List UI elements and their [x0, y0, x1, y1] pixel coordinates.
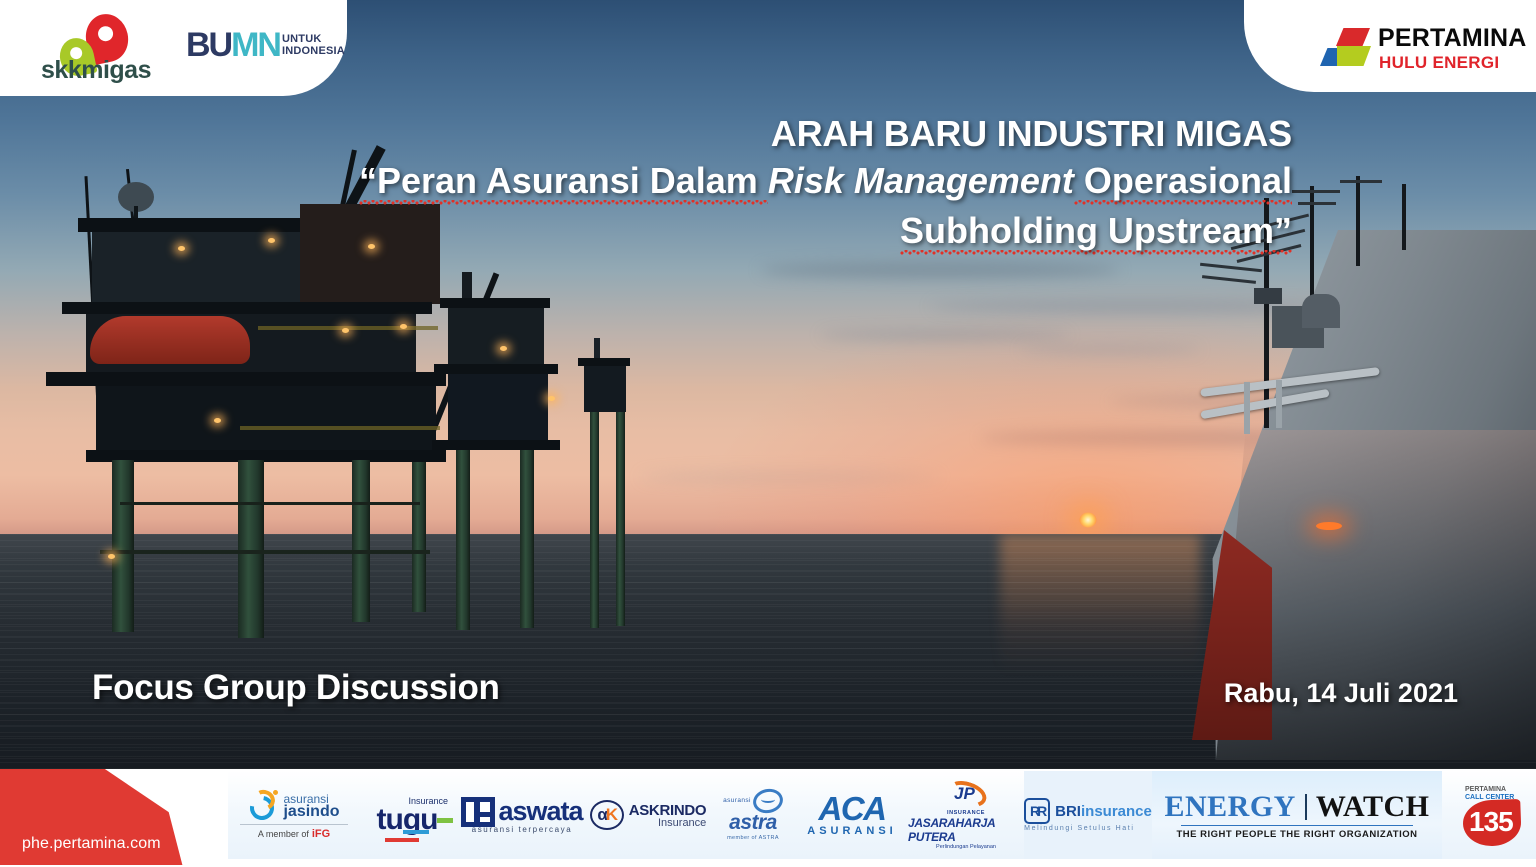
askrindo-mark-k: K — [606, 805, 616, 825]
pertamina-subbrand: HULU ENERGI — [1379, 53, 1499, 73]
aswata-h-icon — [461, 797, 495, 827]
sponsor-logo-strip: asuransi jasindo A member of iFG Insuran… — [228, 771, 1536, 859]
ifg-wordmark: iFG — [312, 828, 330, 840]
sponsor-logo-tugu: Insurance tugu — [356, 776, 458, 854]
jp-wordmark: JASARAHARJA PUTERA — [908, 816, 1024, 844]
astra-wordmark: astra — [729, 811, 777, 835]
bumn-tagline-line1: UNTUK — [282, 33, 345, 45]
event-type-label: Focus Group Discussion — [92, 668, 500, 708]
title-line-1: ARAH BARU INDUSTRI MIGAS — [200, 112, 1292, 156]
skkmigas-wordmark: skkmigas — [24, 56, 168, 85]
askrindo-ak-icon: αK — [590, 800, 624, 830]
title-line-2-part-a: “Peran Asuransi Dalam — [359, 160, 768, 205]
setting-sun — [1080, 513, 1097, 528]
call-center-label-line1: PERTAMINA — [1465, 786, 1514, 794]
website-url: phe.pertamina.com — [0, 835, 161, 867]
sponsor-logo-aca: ACA ASURANSI — [796, 776, 908, 854]
title-line-2-part-b: Operasional — [1074, 160, 1292, 205]
bri-stack: RR BRIinsurance Melindungi Setulus Hati — [1024, 798, 1152, 832]
slide-title-block: ARAH BARU INDUSTRI MIGAS “Peran Asuransi… — [200, 112, 1292, 256]
tugu-dash-accent — [437, 818, 453, 823]
askrindo-wordmark: ASKRINDO Insurance — [629, 802, 707, 829]
title-line-2: “Peran Asuransi Dalam Risk Management Op… — [200, 156, 1292, 206]
astra-label: asuransi — [723, 797, 751, 804]
title-line-2-italic: Risk Management — [768, 160, 1074, 201]
pertamina-logo: PERTAMINA HULU ENERGI — [1320, 22, 1520, 80]
bri-monogram-icon: RR — [1024, 798, 1050, 824]
bri-name-light: insurance — [1081, 803, 1152, 820]
bumn-mark-teal: MN — [231, 26, 280, 64]
skkmigas-logo: skkmigas — [20, 12, 168, 84]
sponsor-logo-aswata: aswata asuransi terpercaya — [458, 776, 586, 854]
pertamina-arrow-icon — [1320, 26, 1372, 72]
jp-swoosh-icon: JP — [943, 780, 989, 810]
presentation-slide: skkmigas BUMN UNTUK INDONESIA PERTAMINA … — [0, 0, 1536, 867]
call-center-number: 135 — [1469, 808, 1513, 836]
jasindo-line2: jasindo — [283, 805, 339, 818]
sponsor-logo-pertamina-call-center: PERTAMINA CALL CENTER 135 — [1442, 776, 1536, 854]
astra-sub: member of ASTRA — [727, 835, 779, 841]
astra-primary-row: asuransi — [723, 789, 783, 813]
bri-name-bold: BRI — [1055, 803, 1081, 820]
askrindo-name: ASKRINDO — [629, 802, 707, 819]
bumn-mark-dark: BU — [186, 26, 231, 64]
aswata-wordmark: aswata — [498, 796, 582, 827]
sponsor-logo-jasindo: asuransi jasindo A member of iFG — [232, 776, 356, 854]
jasindo-member-note: A member of iFG — [258, 828, 330, 840]
energywatch-tagline: THE RIGHT PEOPLE THE RIGHT ORGANIZATION — [1177, 829, 1418, 840]
hull-light-reflection — [1316, 522, 1342, 530]
title-line-3-text: Subholding Upstream” — [900, 210, 1292, 255]
tugu-blue-underline — [403, 830, 429, 834]
bri-tagline: Melindungi Setulus Hati — [1024, 825, 1152, 832]
sponsor-logo-jasaraharja-putera: JP INSURANCE JASARAHARJA PUTERA Perlindu… — [908, 776, 1024, 854]
aca-wordmark: ACA — [819, 793, 886, 825]
bumn-logo: BUMN UNTUK INDONESIA — [186, 28, 336, 72]
divider — [240, 824, 348, 825]
title-line-3: Subholding Upstream” — [200, 206, 1292, 256]
bri-primary-row: RR BRIinsurance — [1024, 798, 1152, 824]
sponsor-logo-astra: asuransi astra member of ASTRA — [710, 776, 796, 854]
jasindo-swirl-icon — [248, 790, 278, 820]
bumn-tagline-line2: INDONESIA — [282, 45, 345, 57]
energywatch-wordmark: ENERGY WATCH — [1165, 790, 1430, 824]
event-date-label: Rabu, 14 Juli 2021 — [1224, 678, 1458, 709]
website-tab: phe.pertamina.com — [0, 769, 228, 867]
askrindo-mark-a: α — [597, 805, 605, 825]
tugu-wordmark: tugu — [377, 806, 438, 834]
jasindo-wordmark: asuransi jasindo — [283, 793, 339, 818]
jp-tagline: Perlindungan Pelayanan — [936, 844, 996, 850]
arrow-red — [1336, 28, 1370, 46]
tugu-red-underline — [385, 838, 419, 842]
footer-bar: phe.pertamina.com asuransi jasindo A mem… — [0, 769, 1536, 867]
arrow-green — [1337, 46, 1371, 66]
aswata-primary-row: aswata — [461, 796, 582, 827]
jasindo-primary-row: asuransi jasindo — [248, 790, 339, 820]
cloud-band — [760, 262, 1120, 278]
sponsor-logo-bri-insurance: RR BRIinsurance Melindungi Setulus Hati — [1024, 771, 1152, 859]
energywatch-divider — [1305, 794, 1307, 820]
bumn-wordmark: BUMN — [186, 28, 280, 62]
bri-wordmark: BRIinsurance — [1055, 803, 1152, 820]
energywatch-word2: WATCH — [1316, 790, 1430, 824]
sponsor-logo-energy-watch: ENERGY WATCH THE RIGHT PEOPLE THE RIGHT … — [1152, 771, 1442, 859]
astra-oval-icon — [753, 789, 783, 813]
aca-sub: ASURANSI — [807, 825, 896, 837]
header-left-panel: skkmigas BUMN UNTUK INDONESIA — [0, 0, 347, 96]
pertamina-wordmark: PERTAMINA — [1378, 24, 1527, 53]
jasindo-member-text: A member of — [258, 829, 309, 839]
call-center-badge: PERTAMINA CALL CENTER 135 — [1453, 784, 1527, 846]
divider — [1181, 825, 1413, 827]
jp-monogram: JP — [954, 784, 975, 804]
bumn-tagline: UNTUK INDONESIA — [282, 33, 345, 57]
askrindo-primary-row: αK ASKRINDO Insurance — [590, 800, 707, 830]
sponsor-logo-askrindo: αK ASKRINDO Insurance — [586, 776, 710, 854]
energywatch-word1: ENERGY — [1165, 790, 1296, 824]
